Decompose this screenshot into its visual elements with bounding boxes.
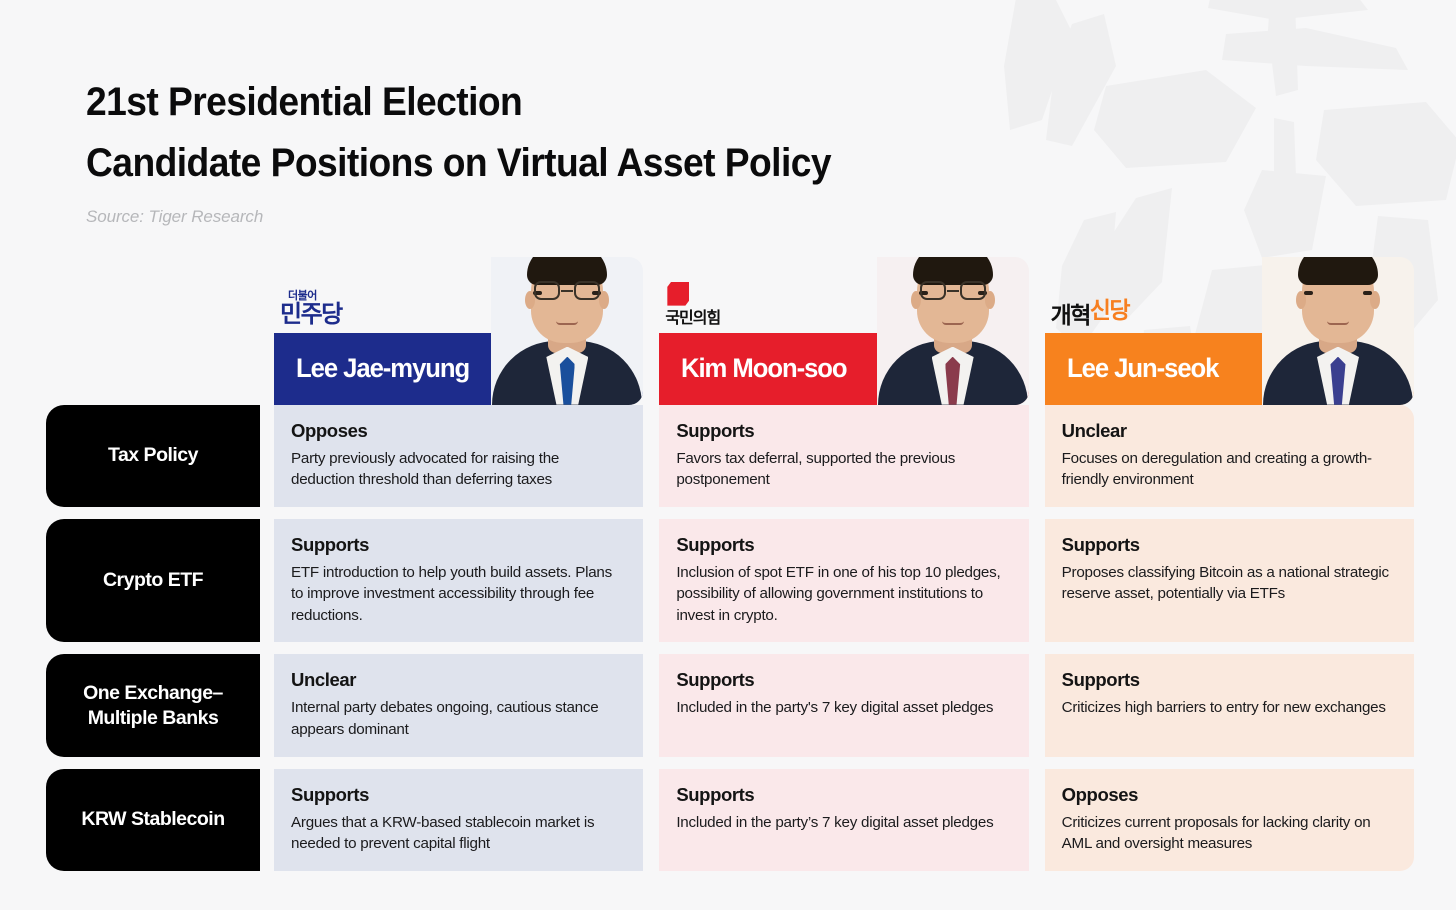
stance-detail: Included in the party’s 7 key digital as… <box>676 812 1011 834</box>
candidate-portrait <box>877 257 1029 405</box>
candidate-portrait <box>491 257 643 405</box>
party-logo-main-text: 민주당 <box>280 303 342 327</box>
portrait-mouth <box>1327 321 1349 325</box>
column-gap <box>1029 519 1045 643</box>
candidate-header-lee-jae-myung: 더불어 민주당 Lee Jae-myung <box>274 253 643 405</box>
stance-label: Supports <box>1062 669 1397 691</box>
stance-label: Supports <box>291 784 626 806</box>
stance-label: Supports <box>676 420 1011 442</box>
policy-cell: OpposesCriticizes current proposals for … <box>1045 769 1414 871</box>
policy-cell: UnclearFocuses on deregulation and creat… <box>1045 405 1414 507</box>
row-label: Crypto ETF <box>46 519 260 643</box>
candidate-name: Lee Jae-myung <box>296 353 469 384</box>
stance-label: Supports <box>291 534 626 556</box>
stance-detail: Argues that a KRW-based stablecoin marke… <box>291 812 626 855</box>
label-gap <box>260 654 274 756</box>
stance-detail: Proposes classifying Bitcoin as a nation… <box>1062 562 1397 605</box>
infographic-page: 21st Presidential Election Candidate Pos… <box>0 0 1456 910</box>
stance-label: Unclear <box>291 669 626 691</box>
policy-cell: SupportsProposes classifying Bitcoin as … <box>1045 519 1414 643</box>
stance-label: Supports <box>676 784 1011 806</box>
party-logo-people-power: 국민의힘 <box>665 281 720 327</box>
stance-label: Unclear <box>1062 420 1397 442</box>
party-logo-mark-icon <box>667 282 689 306</box>
candidate-header-kim-moon-soo: 국민의힘 Kim Moon-soo <box>659 253 1028 405</box>
candidate-header-row: 더불어 민주당 Lee Jae-myung <box>46 253 1414 405</box>
portrait-glasses-icon <box>920 281 986 301</box>
stance-label: Supports <box>676 534 1011 556</box>
table-row: Tax PolicyOpposesParty previously advoca… <box>46 405 1414 507</box>
party-logo-democratic: 더불어 민주당 <box>280 281 342 327</box>
party-logo-reform: 개혁 신당 <box>1051 281 1129 327</box>
column-gap <box>643 405 659 507</box>
policy-cell: SupportsFavors tax deferral, supported t… <box>659 405 1028 507</box>
policy-cell: UnclearInternal party debates ongoing, c… <box>274 654 643 756</box>
comparison-grid: 더불어 민주당 Lee Jae-myung <box>46 253 1414 871</box>
candidate-name: Lee Jun-seok <box>1067 353 1218 384</box>
portrait-glasses-icon <box>534 281 600 301</box>
party-logo-main-text: 신당 <box>1090 299 1129 322</box>
stance-detail: Favors tax deferral, supported the previ… <box>676 448 1011 491</box>
table-row: Crypto ETFSupportsETF introduction to he… <box>46 519 1414 643</box>
candidate-name: Kim Moon-soo <box>681 353 847 384</box>
policy-cell: SupportsETF introduction to help youth b… <box>274 519 643 643</box>
policy-cell: SupportsArgues that a KRW-based stableco… <box>274 769 643 871</box>
row-label: Tax Policy <box>46 405 260 507</box>
label-gap <box>260 519 274 643</box>
column-gap <box>643 769 659 871</box>
label-gap <box>260 405 274 507</box>
source-credit: Source: Tiger Research <box>86 207 1410 227</box>
policy-cell: SupportsIncluded in the party's 7 key di… <box>659 654 1028 756</box>
policy-cell: SupportsIncluded in the party’s 7 key di… <box>659 769 1028 871</box>
label-gap <box>260 769 274 871</box>
stance-label: Opposes <box>1062 784 1397 806</box>
rows-container: Tax PolicyOpposesParty previously advoca… <box>46 405 1414 871</box>
stance-detail: Internal party debates ongoing, cautious… <box>291 697 626 740</box>
policy-cell: SupportsInclusion of spot ETF in one of … <box>659 519 1028 643</box>
candidate-header-lee-jun-seok: 개혁 신당 Lee Jun-seok <box>1045 253 1414 405</box>
portrait-mouth <box>556 321 578 325</box>
table-row: KRW StablecoinSupportsArgues that a KRW-… <box>46 769 1414 871</box>
column-gap <box>643 519 659 643</box>
stance-detail: Focuses on deregulation and creating a g… <box>1062 448 1397 491</box>
stance-label: Supports <box>676 669 1011 691</box>
stance-detail: Criticizes current proposals for lacking… <box>1062 812 1397 855</box>
stance-detail: Inclusion of spot ETF in one of his top … <box>676 562 1011 627</box>
page-title-line-2: Candidate Positions on Virtual Asset Pol… <box>86 133 1317 194</box>
policy-cell: OpposesParty previously advocated for ra… <box>274 405 643 507</box>
column-gap <box>643 654 659 756</box>
stance-detail: Criticizes high barriers to entry for ne… <box>1062 697 1397 719</box>
row-label: One Exchange–Multiple Banks <box>46 654 260 756</box>
portrait-eye-left <box>1304 291 1313 295</box>
stance-label: Supports <box>1062 534 1397 556</box>
stance-detail: Party previously advocated for raising t… <box>291 448 626 491</box>
column-gap <box>1029 769 1045 871</box>
candidate-portrait <box>1262 257 1414 405</box>
title-block: 21st Presidential Election Candidate Pos… <box>86 72 1410 227</box>
table-row: One Exchange–Multiple BanksUnclearIntern… <box>46 654 1414 756</box>
stance-label: Opposes <box>291 420 626 442</box>
policy-cell: SupportsCriticizes high barriers to entr… <box>1045 654 1414 756</box>
page-title-line-1: 21st Presidential Election <box>86 72 1317 133</box>
column-gap <box>1029 654 1045 756</box>
stance-detail: ETF introduction to help youth build ass… <box>291 562 626 627</box>
portrait-eye-right <box>1363 291 1372 295</box>
party-logo-small-text: 개혁 <box>1051 304 1090 327</box>
portrait-mouth <box>942 321 964 325</box>
party-logo-small-text: 더불어 <box>288 291 317 302</box>
portrait-hair <box>1298 257 1378 285</box>
party-logo-main-text: 국민의힘 <box>665 311 720 327</box>
stance-detail: Included in the party's 7 key digital as… <box>676 697 1011 719</box>
column-gap <box>1029 405 1045 507</box>
row-label: KRW Stablecoin <box>46 769 260 871</box>
